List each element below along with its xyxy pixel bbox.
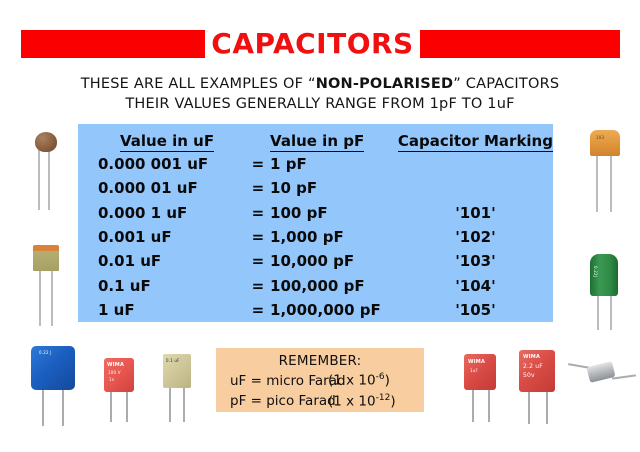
cell-value-pf: 100 pF: [270, 201, 398, 225]
slide-canvas: CAPACITORS THESE ARE ALL EXAMPLES OF “NO…: [0, 0, 640, 452]
column-header-equals: [252, 124, 270, 152]
cell-value-uf: 0.000 1 uF: [78, 201, 252, 225]
wima-red-box-capacitor-image: WIMA 1uF: [460, 352, 502, 428]
capacitor-marking-text: 103: [596, 135, 604, 140]
remember-pf-value-post: ): [390, 393, 395, 409]
cell-marking: '105': [398, 298, 553, 322]
lead-wire: [51, 268, 53, 326]
lead-wire: [596, 154, 598, 212]
cell-equals: =: [252, 152, 270, 176]
remember-pf-exponent: -12: [376, 393, 391, 403]
cell-value-pf: 10,000 pF: [270, 249, 398, 273]
remember-uf-value-pre: (1 x 10: [328, 373, 376, 389]
brand-label: WIMA: [107, 362, 124, 368]
axial-silver-capacitor-image: [566, 362, 638, 398]
cell-value-uf: 0.01 uF: [78, 249, 252, 273]
lead-wire: [169, 386, 171, 422]
cell-value-pf: 1 pF: [270, 152, 398, 176]
wima-red-box-capacitor-small-image: WIMA 100 V 1n: [100, 356, 140, 428]
remember-pf-value-pre: (1 x 10: [328, 393, 376, 409]
table-row: 0.000 01 uF = 10 pF: [78, 176, 553, 200]
cell-equals: =: [252, 298, 270, 322]
lead-wire: [39, 268, 41, 326]
title-bar-left: [21, 30, 205, 58]
blue-box-body: [31, 346, 75, 390]
cell-equals: =: [252, 176, 270, 200]
table-row: 0.000 001 uF = 1 pF: [78, 152, 553, 176]
subtitle-1-post: ” CAPACITORS: [453, 76, 559, 92]
lead-wire: [126, 390, 128, 422]
column-header-value-pf: Value in pF: [270, 124, 398, 152]
remember-uf-label: uF = micro Farad: [230, 373, 328, 390]
brand-label: WIMA: [468, 359, 485, 365]
remember-title: REMEMBER:: [216, 348, 424, 369]
capacitor-marking-text: 0.1 uF: [166, 358, 180, 363]
conversion-table-panel: Value in uF Value in pF Capacitor Markin…: [78, 124, 553, 322]
title-bar-right: [420, 30, 620, 58]
disc-body: [35, 132, 57, 152]
cell-value-uf: 0.1 uF: [78, 273, 252, 297]
lead-wire: [183, 386, 185, 422]
cell-equals: =: [252, 273, 270, 297]
remember-pf-label: pF = pico Farad: [230, 393, 328, 410]
cell-equals: =: [252, 201, 270, 225]
cell-value-pf: 10 pF: [270, 176, 398, 200]
cell-marking: [398, 152, 553, 176]
cell-value-pf: 1,000,000 pF: [270, 298, 398, 322]
table-row: 0.01 uF = 10,000 pF '103': [78, 249, 553, 273]
cell-value-pf: 1,000 pF: [270, 225, 398, 249]
wima-red-box-capacitor-large-image: WIMA 2.2 uF 50v: [515, 348, 561, 428]
lead-wire: [612, 374, 636, 379]
subtitle-1-pre: THESE ARE ALL EXAMPLES OF “: [81, 76, 316, 92]
cell-equals: =: [252, 249, 270, 273]
beige-box-capacitor-image: 0.1 uF: [158, 352, 198, 428]
capacitor-marking-text: 0.22 J: [39, 350, 52, 355]
cell-marking: '101': [398, 201, 553, 225]
lead-wire: [546, 390, 548, 424]
page-title: CAPACITORS: [205, 27, 420, 61]
lead-wire: [597, 292, 599, 330]
table-header-row: Value in uF Value in pF Capacitor Markin…: [78, 124, 553, 152]
cell-marking: '103': [398, 249, 553, 273]
lead-wire: [610, 292, 612, 330]
remember-uf-value-post: ): [385, 373, 390, 389]
remember-line-pf: pF = pico Farad(1 x 10-12): [216, 390, 424, 411]
table-row: 1 uF = 1,000,000 pF '105': [78, 298, 553, 322]
capacitor-marking-text: 1n: [109, 377, 114, 382]
blue-box-capacitor-image: 0.22 J: [28, 344, 80, 430]
column-header-value-uf: Value in uF: [78, 124, 252, 152]
cell-marking: '104': [398, 273, 553, 297]
cell-equals: =: [252, 225, 270, 249]
column-header-capacitor-marking: Capacitor Marking: [398, 124, 553, 152]
green-polyester-capacitor-image: 0.22J: [584, 250, 630, 330]
conversion-table: Value in uF Value in pF Capacitor Markin…: [78, 124, 553, 322]
subtitle-1-emphasis: NON-POLARISED: [316, 76, 454, 92]
lead-wire: [38, 148, 40, 210]
lead-wire: [42, 388, 44, 426]
lead-wire: [110, 390, 112, 422]
lead-wire: [610, 154, 612, 212]
capacitor-marking-text: 100 V: [108, 370, 121, 375]
subtitle-line-1: THESE ARE ALL EXAMPLES OF “NON-POLARISED…: [0, 76, 640, 92]
lead-wire: [488, 388, 490, 422]
lead-wire: [48, 148, 50, 210]
axial-body: [586, 361, 615, 383]
ceramic-disc-capacitor-image: [30, 132, 70, 212]
film-body: [33, 245, 59, 271]
lead-wire: [528, 390, 530, 424]
capacitor-value-text: 2.2 uF: [523, 363, 543, 370]
table-row: 0.001 uF = 1,000 pF '102': [78, 225, 553, 249]
cell-value-uf: 0.000 001 uF: [78, 152, 252, 176]
cell-value-uf: 1 uF: [78, 298, 252, 322]
mica-body: [590, 130, 620, 156]
brand-label: WIMA: [523, 354, 540, 360]
tan-film-capacitor-image: [28, 240, 72, 326]
capacitor-voltage-text: 50v: [523, 372, 535, 379]
table-row: 0.1 uF = 100,000 pF '104': [78, 273, 553, 297]
cell-value-pf: 100,000 pF: [270, 273, 398, 297]
lead-wire: [62, 388, 64, 426]
remember-line-uf: uF = micro Farad(1 x 10-6): [216, 369, 424, 390]
subtitle-line-2: THEIR VALUES GENERALLY RANGE FROM 1pF TO…: [0, 96, 640, 112]
remember-uf-exponent: -6: [376, 372, 385, 382]
capacitor-marking-text: 1uF: [470, 368, 478, 373]
remember-panel: REMEMBER: uF = micro Farad(1 x 10-6) pF …: [216, 348, 424, 412]
cell-marking: [398, 176, 553, 200]
cell-value-uf: 0.001 uF: [78, 225, 252, 249]
table-row: 0.000 1 uF = 100 pF '101': [78, 201, 553, 225]
orange-dipped-mica-capacitor-image: 103: [586, 128, 630, 214]
capacitor-marking-text: 0.22J: [593, 266, 598, 277]
cell-marking: '102': [398, 225, 553, 249]
title-banner: CAPACITORS: [0, 30, 640, 60]
cell-value-uf: 0.000 01 uF: [78, 176, 252, 200]
lead-wire: [472, 388, 474, 422]
